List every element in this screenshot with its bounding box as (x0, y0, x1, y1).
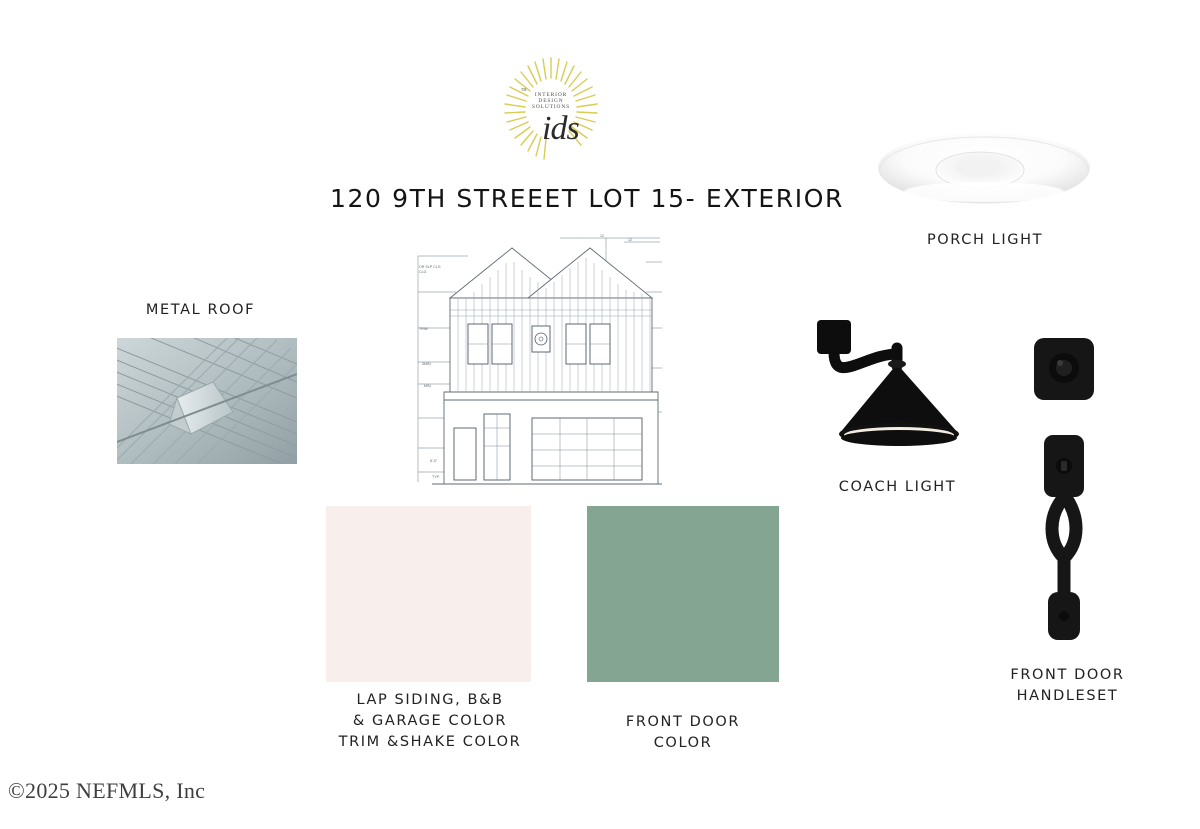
copyright-watermark: ©2025 NEFMLS, Inc (8, 778, 205, 804)
svg-text:OR SLP CLG: OR SLP CLG (419, 265, 441, 269)
svg-text:TRIM: TRIM (419, 327, 428, 331)
svg-text:TYP.: TYP. (432, 475, 440, 479)
front-elevation-drawing: OR SLP CLG CLG TRIM 3MIN MIN 8'-0" TYP. … (410, 232, 670, 494)
porch-light-image (876, 130, 1092, 206)
front-door-handleset-image (1020, 330, 1110, 640)
svg-text:8'-0": 8'-0" (430, 459, 438, 463)
lap-siding-color-swatch (326, 506, 531, 682)
brand-logo: TM INTERIOR DESIGN SOLUTIONS ids (488, 52, 618, 172)
svg-text:12: 12 (600, 234, 604, 238)
front-door-color-swatch (587, 506, 779, 682)
svg-text:3MIN: 3MIN (422, 362, 431, 366)
logo-monogram: ids (542, 110, 579, 148)
porch-light-label: PORCH LIGHT (870, 230, 1100, 251)
front-door-handleset-label: FRONT DOOR HANDLESET (960, 665, 1175, 707)
coach-light-image (805, 308, 995, 458)
lap-siding-color-label: LAP SIDING, B&B & GARAGE COLOR TRIM &SHA… (290, 690, 570, 753)
coach-light-label: COACH LIGHT (790, 477, 1005, 498)
svg-text:CLG: CLG (419, 270, 427, 274)
metal-roof-label: METAL ROOF (68, 300, 333, 321)
front-door-color-label: FRONT DOOR COLOR (587, 712, 779, 754)
logo-wordmark: INTERIOR DESIGN SOLUTIONS (520, 92, 582, 110)
svg-text:MIN: MIN (424, 384, 431, 388)
svg-text:12: 12 (628, 238, 632, 242)
metal-roof-image (117, 338, 297, 464)
